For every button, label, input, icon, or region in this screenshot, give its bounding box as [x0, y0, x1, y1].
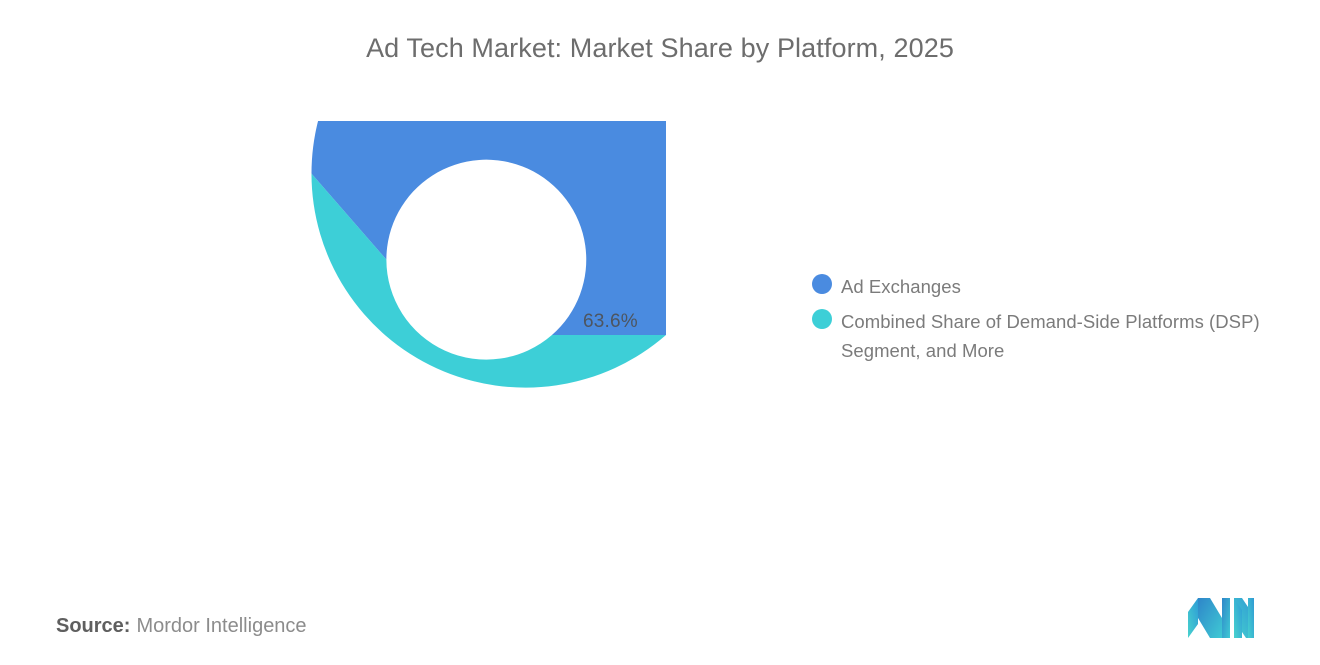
source-line: Source:Mordor Intelligence	[56, 611, 307, 641]
legend-item-ad-exchanges[interactable]: Ad Exchanges	[812, 272, 1292, 301]
slice-value-label-ad-exchanges: 63.6%	[583, 311, 638, 333]
source-label: Source:	[56, 615, 130, 637]
legend-item-label: Ad Exchanges	[841, 272, 961, 301]
legend-item-dsp-and-more[interactable]: Combined Share of Demand-Side Platforms …	[812, 307, 1292, 365]
source-value: Mordor Intelligence	[136, 615, 306, 637]
page-title: Ad Tech Market: Market Share by Platform…	[0, 28, 1320, 68]
legend-color-swatch-icon	[812, 274, 832, 294]
donut-chart: 63.6%	[238, 121, 666, 549]
donut-chart-svg	[238, 121, 666, 549]
legend-color-swatch-icon	[812, 309, 832, 329]
mordor-intelligence-logo	[1186, 596, 1256, 638]
legend-item-label: Combined Share of Demand-Side Platforms …	[841, 307, 1286, 365]
chart-legend: Ad Exchanges Combined Share of Demand-Si…	[812, 272, 1292, 371]
logo-mark-icon	[1186, 596, 1256, 638]
